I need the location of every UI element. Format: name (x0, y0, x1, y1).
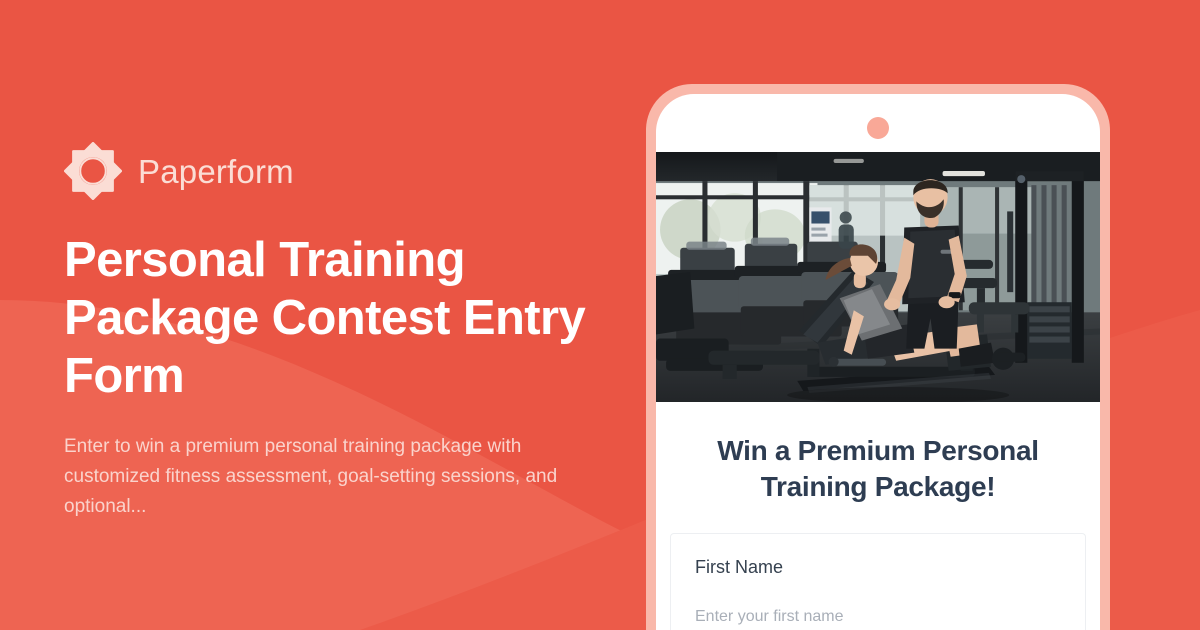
paperform-star-logo-icon (64, 142, 122, 200)
phone-status-bar (656, 94, 1100, 152)
brand-lockup: Paperform (64, 140, 624, 202)
page-description: Enter to win a premium personal training… (64, 432, 574, 522)
brand-name: Paperform (138, 155, 294, 188)
phone-mockup: Win a Premium Personal Training Package!… (646, 84, 1110, 630)
first-name-label: First Name (695, 556, 1061, 579)
page-title: Personal Training Package Contest Entry … (64, 232, 624, 405)
promo-banner: Paperform Personal Training Package Cont… (0, 0, 1200, 630)
form-hero-image (656, 152, 1100, 402)
form-heading: Win a Premium Personal Training Package! (656, 402, 1100, 505)
form-field-card: First Name (670, 533, 1086, 630)
camera-dot-icon (867, 117, 889, 139)
hero-left-column: Paperform Personal Training Package Cont… (64, 140, 624, 522)
phone-screen: Win a Premium Personal Training Package!… (656, 94, 1100, 630)
first-name-input[interactable] (695, 608, 1061, 630)
